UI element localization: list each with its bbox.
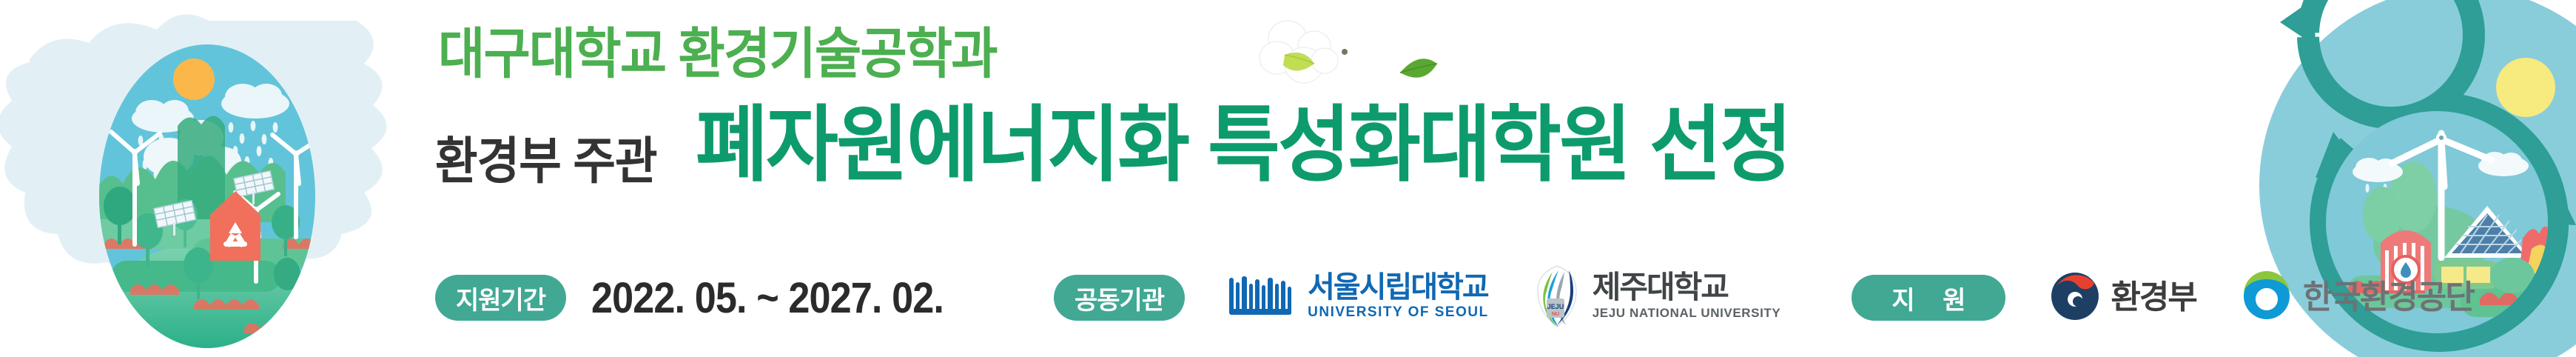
keco-name-kr: 한국환경공단 (2303, 281, 2474, 314)
credits-row: 지원기간 2022. 05. ~ 2027. 02. 공동기관 (435, 261, 2474, 335)
period-value: 2022. 05. ~ 2027. 02. (591, 273, 944, 323)
supporter-logo-ministry-of-environment: 환경부 (2048, 270, 2196, 327)
support-label-badge: 지 원 (1852, 275, 2005, 321)
uos-name-en: UNIVERSITY OF SEOUL (1308, 302, 1489, 324)
partners-label-badge: 공동기관 (1054, 275, 1185, 321)
supporter-logo-korea-environment-corporation: 한국환경공단 (2239, 269, 2474, 327)
department-title: 대구대학교 환경기술공학과 (438, 27, 997, 81)
moe-taegeuk-icon (2048, 270, 2102, 327)
keco-ring-icon (2239, 269, 2294, 327)
cloud-with-leaf-icon (1243, 6, 1384, 95)
svg-text:JEJU: JEJU (1547, 303, 1564, 310)
svg-text:NU: NU (1552, 312, 1559, 317)
jeju-wordmark: 제주대학교 JEJU NATIONAL UNIVERSITY (1593, 272, 1781, 323)
program-title: 폐자원에너지화 특성화대학원 선정 (696, 104, 1790, 187)
moe-name-kr: 환경부 (2111, 281, 2196, 314)
period-label-badge: 지원기간 (435, 275, 566, 321)
partner-logo-university-of-seoul: 서울시립대학교 UNIVERSITY OF SEOUL (1228, 272, 1489, 324)
jeju-name-kr: 제주대학교 (1593, 272, 1781, 303)
partner-logo-jeju-national-university: JEJU NU 제주대학교 JEJU NATIONAL UNIVERSITY (1532, 264, 1781, 332)
leaf-icon (1397, 53, 1440, 83)
left-illustration (0, 0, 414, 357)
uos-name-kr: 서울시립대학교 (1308, 273, 1489, 302)
ministry-prefix: 환경부 주관 (435, 136, 657, 187)
uos-barcode-icon (1228, 272, 1299, 324)
program-title-line: 환경부 주관 폐자원에너지화 특성화대학원 선정 (435, 104, 1848, 187)
uos-wordmark: 서울시립대학교 UNIVERSITY OF SEOUL (1308, 273, 1489, 324)
banner-text-block: 대구대학교 환경기술공학과 (422, 0, 2250, 357)
promo-banner: 대구대학교 환경기술공학과 (0, 0, 2576, 357)
jeju-flame-icon: JEJU NU (1532, 264, 1584, 332)
jeju-name-en: JEJU NATIONAL UNIVERSITY (1593, 303, 1781, 323)
